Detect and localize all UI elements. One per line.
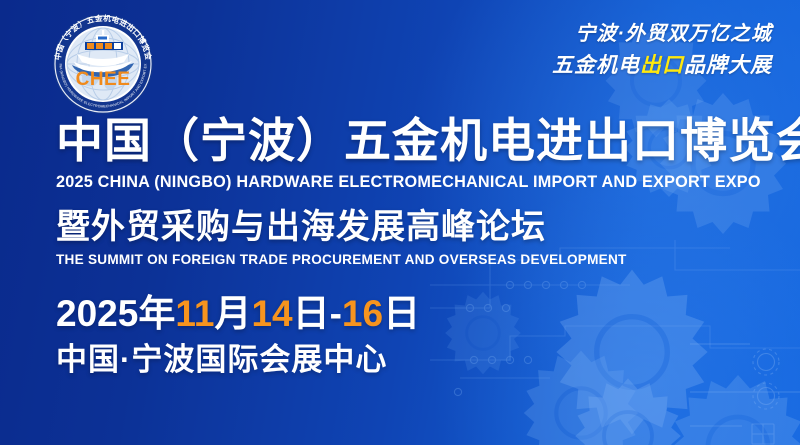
expo-title-en: 2025 CHINA (NINGBO) HARDWARE ELECTROMECH…	[56, 173, 771, 191]
event-date: 2025年11月14日-16日	[56, 295, 782, 334]
forum-subtitle-cn: 暨外贸采购与出海发展高峰论坛	[56, 209, 782, 245]
gear-icon	[663, 372, 800, 445]
expo-poster: CHEE 中国（宁波）五金机电进出口博览会 CHINA (NINGBO) HAR…	[0, 0, 800, 445]
event-month-unit: 月	[214, 293, 251, 334]
event-venue: 中国·宁波国际会展中心	[56, 344, 782, 377]
tagline-line-2-post: 品牌大展	[684, 54, 772, 77]
event-day-start: 14	[251, 293, 292, 334]
event-year-unit: 年	[138, 293, 175, 334]
tagline-line-2-highlight: 出口	[640, 54, 684, 77]
event-year: 2025	[56, 293, 138, 334]
tagline-line-1: 宁波·外贸双万亿之城	[552, 24, 772, 44]
tagline-block: 宁波·外贸双万亿之城 五金机电出口品牌大展	[552, 24, 772, 76]
event-day-end-unit: 日	[383, 293, 420, 334]
forum-subtitle-en: THE SUMMIT ON FOREIGN TRADE PROCUREMENT …	[56, 253, 782, 268]
gear-icon	[568, 376, 688, 445]
event-day-end: 16	[342, 293, 383, 334]
chee-logo: CHEE 中国（宁波）五金机电进出口博览会 CHINA (NINGBO) HAR…	[52, 13, 154, 115]
tagline-line-2-pre: 五金机电	[552, 54, 640, 77]
main-content: 中国（宁波）五金机电进出口博览会 2025 CHINA (NINGBO) HAR…	[56, 116, 782, 376]
event-month: 11	[175, 293, 214, 334]
tagline-line-2: 五金机电出口品牌大展	[552, 55, 772, 76]
event-date-dash: -	[330, 293, 342, 334]
svg-text:CHEE: CHEE	[76, 69, 131, 90]
event-day-unit: 日	[293, 293, 330, 334]
expo-title-cn: 中国（宁波）五金机电进出口博览会	[56, 116, 782, 166]
